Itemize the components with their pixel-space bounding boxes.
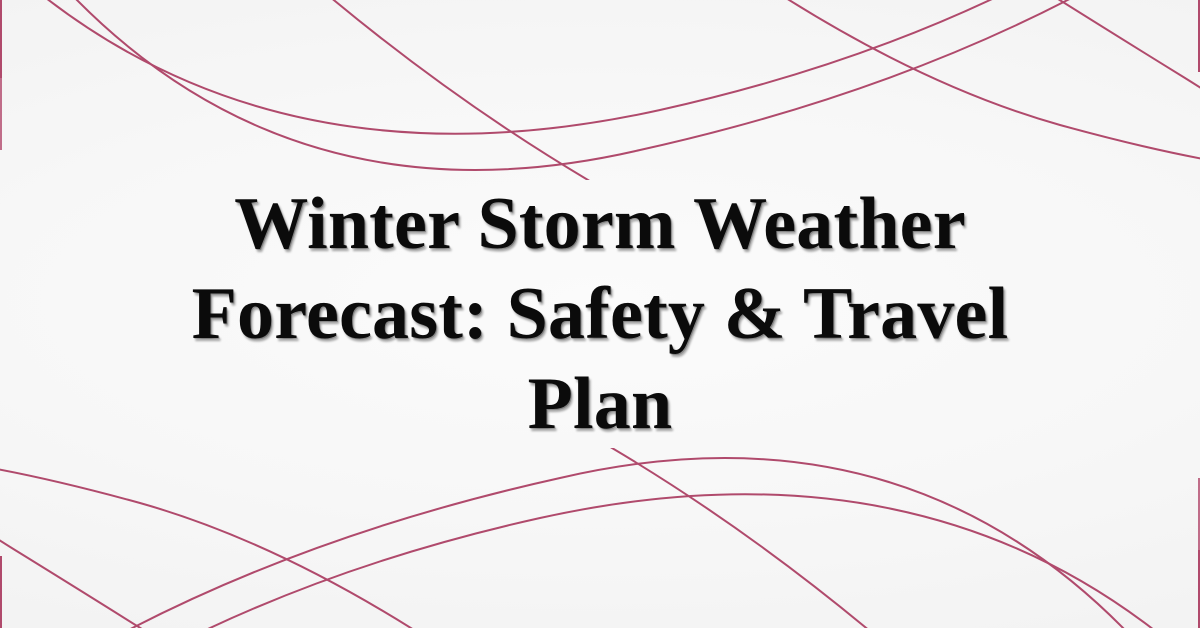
- title-card: Winter Storm Weather Forecast: Safety & …: [0, 0, 1200, 628]
- title-block: Winter Storm Weather Forecast: Safety & …: [0, 0, 1200, 628]
- page-title: Winter Storm Weather Forecast: Safety & …: [120, 179, 1080, 449]
